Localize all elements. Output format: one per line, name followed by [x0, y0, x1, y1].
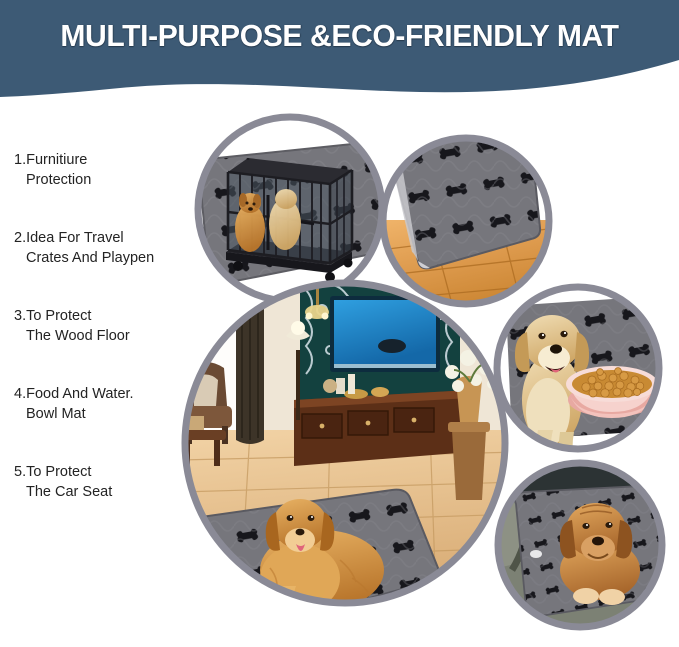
circle-panel-food-bowl-mat	[495, 285, 666, 466]
circle-panel-car-seat-mat	[495, 460, 667, 634]
collage-svg	[0, 100, 679, 642]
product-use-collage	[0, 100, 679, 642]
circle-panel-crate-on-mat	[190, 110, 392, 310]
circle-panel-living-room-mat	[180, 280, 520, 638]
page-title: MULTI-PURPOSE &ECO-FRIENDLY MAT	[10, 18, 669, 54]
header-banner: MULTI-PURPOSE &ECO-FRIENDLY MAT	[0, 0, 679, 100]
